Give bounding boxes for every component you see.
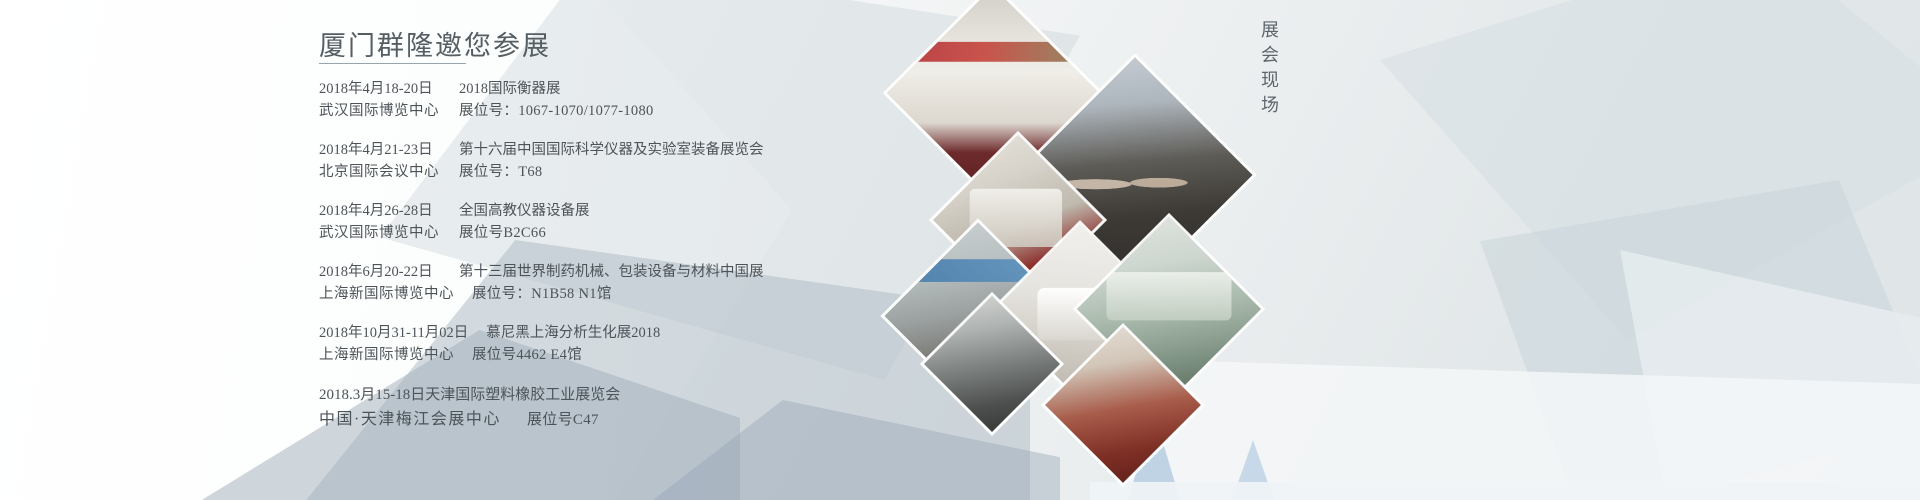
background-polygon-5	[1380, 0, 1920, 340]
exhibition-booth: 展位号：N1B58 N1馆	[472, 283, 612, 305]
exhibition-entry: 2018年6月20-22日 第十三届世界制药机械、包装设备与材料中国展 上海新国…	[319, 261, 879, 305]
exhibition-booth: 展位号C47	[527, 408, 599, 432]
exhibition-entry: 2018年4月18-20日 2018国际衡器展 武汉国际博览中心 展位号：106…	[319, 78, 879, 122]
exhibition-date: 2018年4月21-23日	[319, 139, 441, 161]
exhibition-name: 第十六届中国国际科学仪器及实验室装备展览会	[459, 139, 764, 161]
exhibition-venue: 北京国际会议中心	[319, 161, 441, 183]
title-underline	[319, 63, 466, 64]
exhibition-entry-line-1: 2018.3月15-18日天津国际塑料橡胶工业展览会	[319, 383, 879, 407]
page-title: 厦门群隆邀您参展	[319, 24, 551, 63]
exhibition-venue: 中国·天津梅江会展中心	[319, 407, 509, 433]
exhibition-booth: 展位号：1067-1070/1077-1080	[459, 100, 654, 122]
exhibition-entry: 2018年10月31-11月02日 慕尼黑上海分析生化展2018 上海新国际博览…	[319, 322, 879, 366]
exhibition-entry-line-1: 2018年4月21-23日 第十六届中国国际科学仪器及实验室装备展览会	[319, 139, 879, 161]
exhibition-booth: 展位号4462 E4馆	[472, 344, 582, 366]
exhibition-entry-line-2: 中国·天津梅江会展中心 展位号C47	[319, 407, 879, 433]
exhibition-entry: 2018年4月26-28日 全国高教仪器设备展 武汉国际博览中心 展位号B2C6…	[319, 200, 879, 244]
exhibition-name: 2018国际衡器展	[459, 78, 561, 100]
exhibition-list-panel: 厦门群隆邀您参展 2018年4月18-20日 2018国际衡器展 武汉国际博览中…	[0, 0, 900, 500]
exhibition-entry: 2018.3月15-18日天津国际塑料橡胶工业展览会 中国·天津梅江会展中心 展…	[319, 383, 879, 433]
exhibition-name: 第十三届世界制药机械、包装设备与材料中国展	[459, 261, 764, 283]
exhibition-booth: 展位号B2C66	[459, 222, 546, 244]
exhibition-venue: 上海新国际博览中心	[319, 344, 454, 366]
exhibition-date: 2018年4月18-20日	[319, 78, 441, 100]
exhibition-booth: 展位号：T68	[459, 161, 542, 183]
exhibition-venue: 武汉国际博览中心	[319, 100, 441, 122]
exhibition-entry-line-2: 上海新国际博览中心 展位号4462 E4馆	[319, 344, 879, 366]
exhibition-entry-line-1: 2018年4月26-28日 全国高教仪器设备展	[319, 200, 879, 222]
exhibition-banner: 厦门群隆邀您参展 2018年4月18-20日 2018国际衡器展 武汉国际博览中…	[0, 0, 1920, 500]
exhibition-entry-line-2: 北京国际会议中心 展位号：T68	[319, 161, 879, 183]
exhibition-entry-line-2: 上海新国际博览中心 展位号：N1B58 N1馆	[319, 283, 879, 305]
background-polygon-7	[1620, 250, 1920, 500]
exhibition-venue: 武汉国际博览中心	[319, 222, 441, 244]
exhibition-date: 2018.3月15-18日天津国际塑料橡胶工业展览会	[319, 383, 620, 407]
photo-collage	[840, 0, 1280, 500]
background-polygon-6	[1480, 180, 1920, 500]
exhibition-date: 2018年10月31-11月02日	[319, 322, 468, 344]
exhibition-entry-line-1: 2018年10月31-11月02日 慕尼黑上海分析生化展2018	[319, 322, 879, 344]
exhibition-entry: 2018年4月21-23日 第十六届中国国际科学仪器及实验室装备展览会 北京国际…	[319, 139, 879, 183]
exhibition-date: 2018年4月26-28日	[319, 200, 441, 222]
exhibition-entry-line-2: 武汉国际博览中心 展位号：1067-1070/1077-1080	[319, 100, 879, 122]
exhibition-name: 全国高教仪器设备展	[459, 200, 590, 222]
exhibition-name: 慕尼黑上海分析生化展2018	[486, 322, 660, 344]
exhibition-date: 2018年6月20-22日	[319, 261, 441, 283]
exhibition-venue: 上海新国际博览中心	[319, 283, 454, 305]
exhibition-entry-line-1: 2018年6月20-22日 第十三届世界制药机械、包装设备与材料中国展	[319, 261, 879, 283]
vertical-caption: 展会现场	[1245, 20, 1279, 120]
exhibition-entry-line-2: 武汉国际博览中心 展位号B2C66	[319, 222, 879, 244]
exhibition-entry-line-1: 2018年4月18-20日 2018国际衡器展	[319, 78, 879, 100]
exhibition-list: 2018年4月18-20日 2018国际衡器展 武汉国际博览中心 展位号：106…	[319, 78, 879, 450]
